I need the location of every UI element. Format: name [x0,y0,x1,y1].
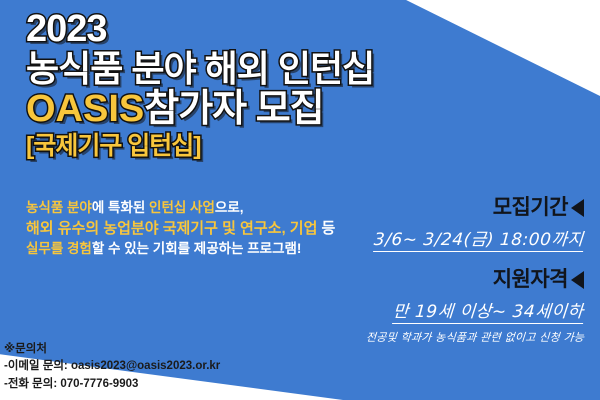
contact-email[interactable]: -이메일 문의: oasis2023@oasis2023.or.kr [4,358,220,376]
description-line-3: 실무를 경험할 수 있는 기회를 제공하는 프로그램! [26,239,376,259]
recruitment-period-block: 모집기간 3/6~ 3/24(금) 18:00까지 [374,196,584,252]
description-line-3-highlight: 실무를 경험 [26,241,92,256]
description-line-2-highlight: 해외 유수의 농업분야 국제기구 및 연구소, 기업 [26,220,317,237]
description-line-3-text: 할 수 있는 기회를 제공하는 프로그램! [92,241,302,256]
recruitment-period-heading: 모집기간 [374,196,584,219]
headline-brand-line: OASIS참가자 모집 [26,90,506,129]
headline-block: 2023 농식품 분야 해외 인턴십 OASIS참가자 모집 [국제기구 입턴십… [26,10,506,160]
qualification-label: 지원자격 [493,268,568,291]
qualification-heading: 지원자격 [366,268,584,291]
description-line-1-highlight-2: 인턴십 사업 [149,200,215,215]
recruitment-period-value: 3/6~ 3/24(금) 18:00까지 [373,225,585,252]
qualification-note: 전공및 학과가 농식품과 관련 없이고 신청 가능 [365,329,584,345]
contact-title: ※문의처 [4,341,220,359]
brand-oasis: OASIS [26,88,144,130]
headline-bracket: [국제기구 입턴십] [26,134,506,160]
description-line-1-text: 에 특화된 [92,200,149,215]
triangle-left-icon-2 [571,271,584,289]
triangle-left-icon [571,199,584,217]
headline-year: 2023 [26,10,506,49]
description-line-2-text: 등 [317,220,335,237]
recruitment-period-label: 모집기간 [493,196,568,219]
contact-phone[interactable]: -전화 문의: 070-7776-9903 [4,376,220,394]
qualification-value: 만 19세 이상~ 34세이하 [392,297,585,324]
poster-canvas: 2023 농식품 분야 해외 인턴십 OASIS참가자 모집 [국제기구 입턴십… [0,0,600,400]
description-line-1: 농식품 분야에 특화된 인턴십 사업으로, [26,198,376,218]
qualification-block: 지원자격 만 19세 이상~ 34세이하 전공및 학과가 농식품과 관련 없이고… [366,268,584,345]
description-line-1-text-2: 으로, [215,200,244,215]
headline-subject: 참가자 모집 [144,88,323,130]
headline-main: 농식품 분야 해외 인턴십 [26,51,506,88]
description-block: 농식품 분야에 특화된 인턴십 사업으로, 해외 유수의 농업분야 국제기구 및… [26,198,376,259]
description-line-2: 해외 유수의 농업분야 국제기구 및 연구소, 기업 등 [26,218,376,240]
description-line-1-highlight: 농식품 분야 [26,200,92,215]
contact-block: ※문의처 -이메일 문의: oasis2023@oasis2023.or.kr … [4,341,220,394]
